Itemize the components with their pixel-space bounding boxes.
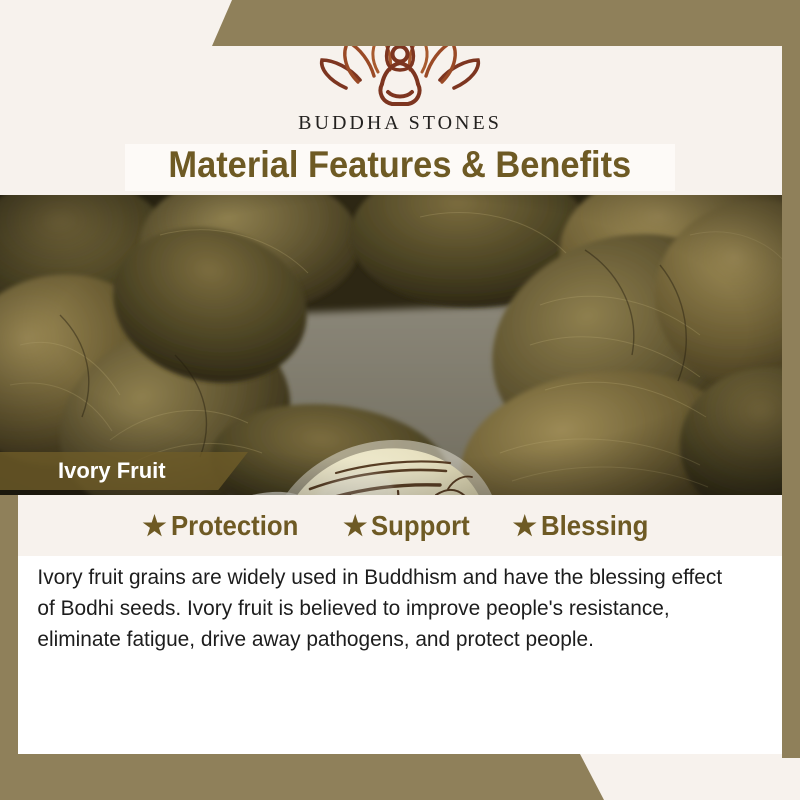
page-title: Material Features & Benefits (169, 146, 632, 185)
benefit-label: Blessing (541, 510, 648, 542)
frame-left-bar (0, 495, 18, 775)
star-icon: ★ (513, 513, 537, 540)
material-photo (0, 195, 800, 495)
benefit-item-blessing: ★ Blessing (513, 510, 658, 542)
frame-bottom-bar (0, 754, 800, 800)
title-band: Material Features & Benefits (18, 140, 782, 195)
frame-right-bar (782, 0, 800, 758)
star-icon: ★ (142, 513, 166, 540)
brand-name: BUDDHA STONES (0, 112, 800, 135)
title-plate: Material Features & Benefits (125, 144, 675, 191)
description-panel: Ivory fruit grains are widely used in Bu… (18, 556, 782, 754)
benefit-item-support: ★ Support (343, 510, 479, 542)
benefit-label: Protection (171, 510, 298, 542)
poster: BUDDHA STONES Material Features & Benefi… (0, 0, 800, 800)
benefits-row: ★ Protection ★ Support ★ Blessing (18, 510, 782, 542)
material-label-banner: Ivory Fruit (0, 452, 248, 490)
material-label-text: Ivory Fruit (58, 458, 166, 484)
description-text: Ivory fruit grains are widely used in Bu… (18, 556, 759, 655)
benefit-label: Support (371, 510, 470, 542)
star-icon: ★ (343, 513, 367, 540)
benefit-item-protection: ★ Protection (142, 510, 309, 542)
